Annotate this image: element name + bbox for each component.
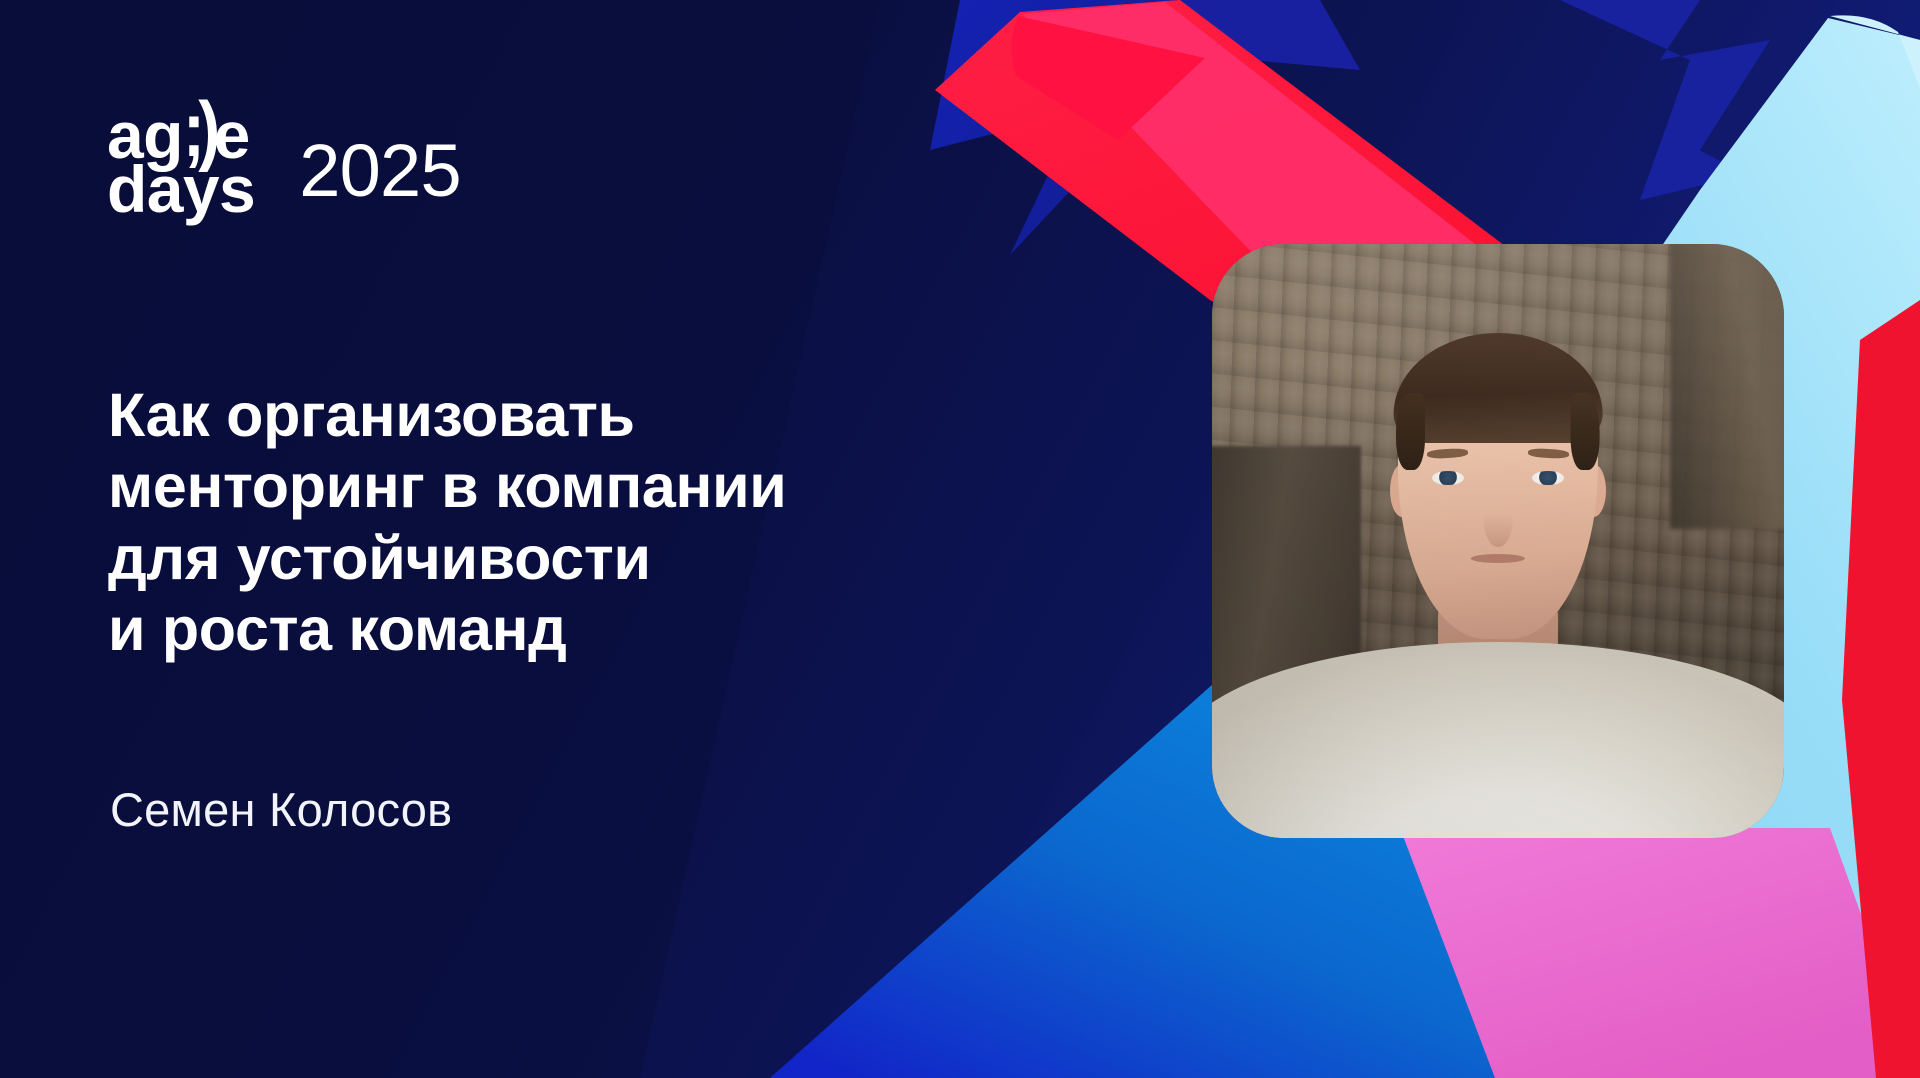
talk-title: Как организовать менторинг в компании дл… — [108, 380, 1068, 665]
brand-logo: ag;)e days 2025 — [107, 108, 461, 216]
speaker-name: Семен Колосов — [110, 782, 452, 837]
talk-title-line-4: и роста команд — [108, 594, 1068, 665]
talk-title-line-3: для устойчивости — [108, 523, 1068, 594]
logo-wordmark: ag;)e days — [107, 108, 255, 216]
wink-emoticon-icon: ;) — [183, 97, 214, 161]
conference-slide: ag;)e days 2025 Как организовать ментори… — [0, 0, 1920, 1078]
talk-title-line-2: менторинг в компании — [108, 451, 1068, 522]
logo-line-days: days — [107, 162, 255, 216]
logo-year: 2025 — [299, 134, 461, 208]
talk-title-line-1: Как организовать — [108, 380, 1068, 451]
portrait-shading — [1212, 244, 1784, 838]
speaker-portrait — [1212, 244, 1784, 838]
